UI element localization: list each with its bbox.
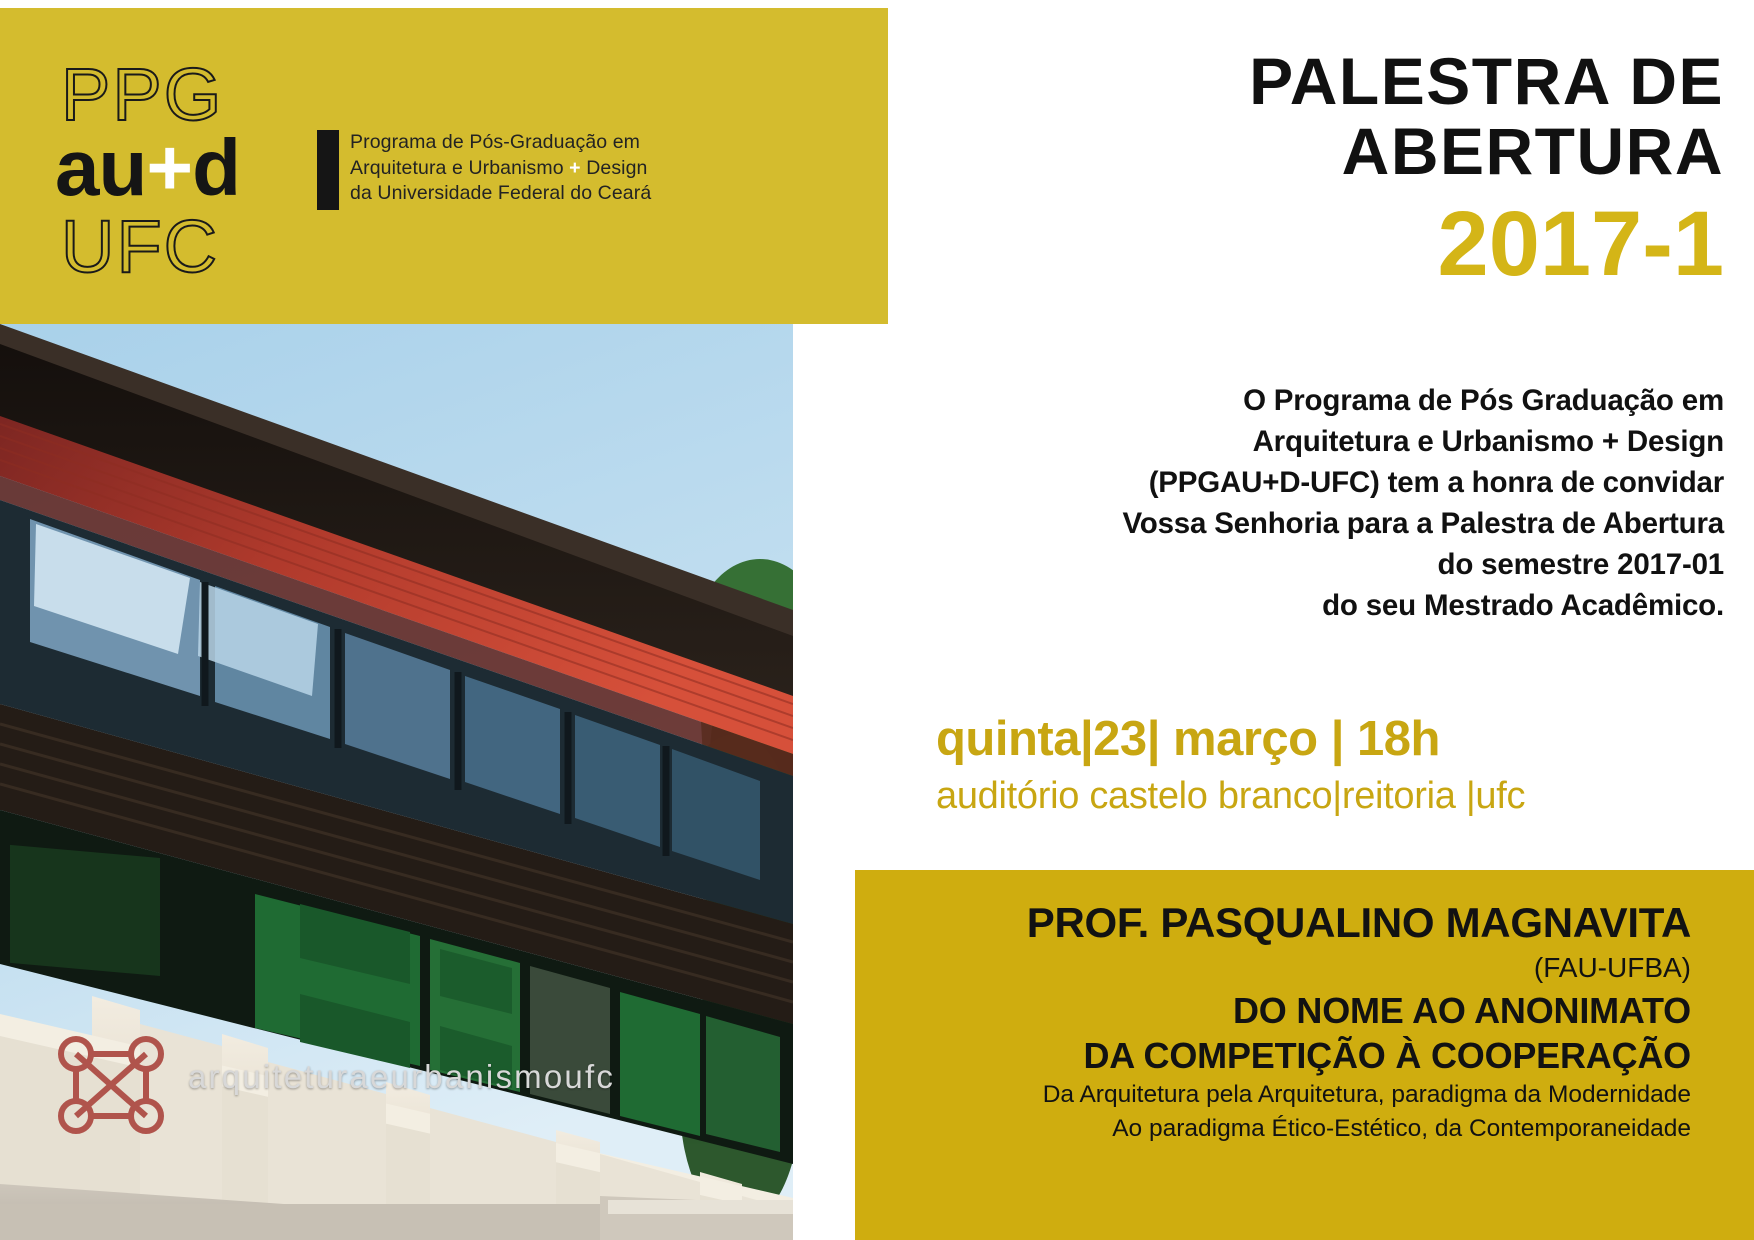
- speaker-name: PROF. PASQUALINO MAGNAVITA: [891, 898, 1691, 948]
- event-venue: auditório castelo branco|reitoria |ufc: [936, 772, 1754, 820]
- title-line-2: ABERTURA: [914, 116, 1724, 186]
- logo-tagline-line-1: Programa de Pós-Graduação em: [350, 130, 700, 156]
- event-datetime: quinta|23| março | 18h: [936, 710, 1754, 768]
- watermark-text: arquiteturaeurbanismoufc: [188, 1056, 615, 1098]
- watermark-logo-group: arquiteturaeurbanismoufc: [52, 1030, 672, 1140]
- logo-tagline: Programa de Pós-Graduação em Arquitetura…: [350, 130, 700, 207]
- invitation-line: Arquitetura e Urbanismo + Design: [1084, 421, 1724, 462]
- logo-tagline-plus-icon: +: [569, 157, 581, 179]
- right-column: PALESTRA DE ABERTURA 2017-1 O Programa d…: [888, 0, 1754, 1240]
- invitation-line: O Programa de Pós Graduação em: [1084, 380, 1724, 421]
- ufc-architecture-mark-icon: [52, 1030, 172, 1140]
- talk-subtitle-line-2: Ao paradigma Ético-Estético, da Contempo…: [891, 1112, 1691, 1146]
- logo-tagline-line-2: Arquitetura e Urbanismo + Design: [350, 156, 700, 182]
- logo-ufc-text: UFC: [61, 210, 219, 284]
- invitation-line: do semestre 2017-01: [1084, 544, 1724, 585]
- invitation-paragraph: O Programa de Pós Graduação em Arquitetu…: [1084, 380, 1724, 626]
- left-column: PPG UFC au+d Programa de Pós-Graduação e…: [0, 0, 888, 1240]
- poster-title-block: PALESTRA DE ABERTURA 2017-1: [914, 46, 1724, 290]
- ppgaud-ufc-logo: PPG UFC au+d Programa de Pós-Graduação e…: [55, 58, 695, 288]
- speaker-info: PROF. PASQUALINO MAGNAVITA (FAU-UFBA) DO…: [891, 898, 1691, 1146]
- logo-d-text: d: [192, 123, 240, 212]
- speaker-footer-band: PROF. PASQUALINO MAGNAVITA (FAU-UFBA) DO…: [855, 870, 1754, 1240]
- invitation-line: Vossa Senhoria para a Palestra de Abertu…: [1084, 503, 1724, 544]
- title-year: 2017-1: [914, 198, 1724, 290]
- speaker-affiliation: (FAU-UFBA): [891, 948, 1691, 988]
- brand-header-band: PPG UFC au+d Programa de Pós-Graduação e…: [0, 8, 888, 324]
- title-line-1: PALESTRA DE: [914, 46, 1724, 116]
- logo-divider-bar: [317, 130, 339, 210]
- logo-tagline-line-2a: Arquitetura e Urbanismo: [350, 157, 569, 179]
- logo-ppg-text: PPG: [61, 58, 223, 132]
- logo-au-text: au: [55, 123, 146, 212]
- logo-aud-text: au+d: [55, 128, 240, 208]
- event-datetime-block: quinta|23| março | 18h auditório castelo…: [936, 710, 1754, 820]
- talk-title-line-1: DO NOME AO ANONIMATO: [891, 988, 1691, 1033]
- talk-subtitle-line-1: Da Arquitetura pela Arquitetura, paradig…: [891, 1078, 1691, 1112]
- invitation-line: do seu Mestrado Acadêmico.: [1084, 585, 1724, 626]
- logo-plus-icon: +: [146, 123, 192, 212]
- talk-title-line-2: DA COMPETIÇÃO À COOPERAÇÃO: [891, 1033, 1691, 1078]
- invitation-line: (PPGAU+D-UFC) tem a honra de convidar: [1084, 462, 1724, 503]
- logo-tagline-line-3: da Universidade Federal do Ceará: [350, 181, 700, 207]
- logo-tagline-line-2b: Design: [581, 157, 648, 179]
- poster-root: PPG UFC au+d Programa de Pós-Graduação e…: [0, 0, 1754, 1240]
